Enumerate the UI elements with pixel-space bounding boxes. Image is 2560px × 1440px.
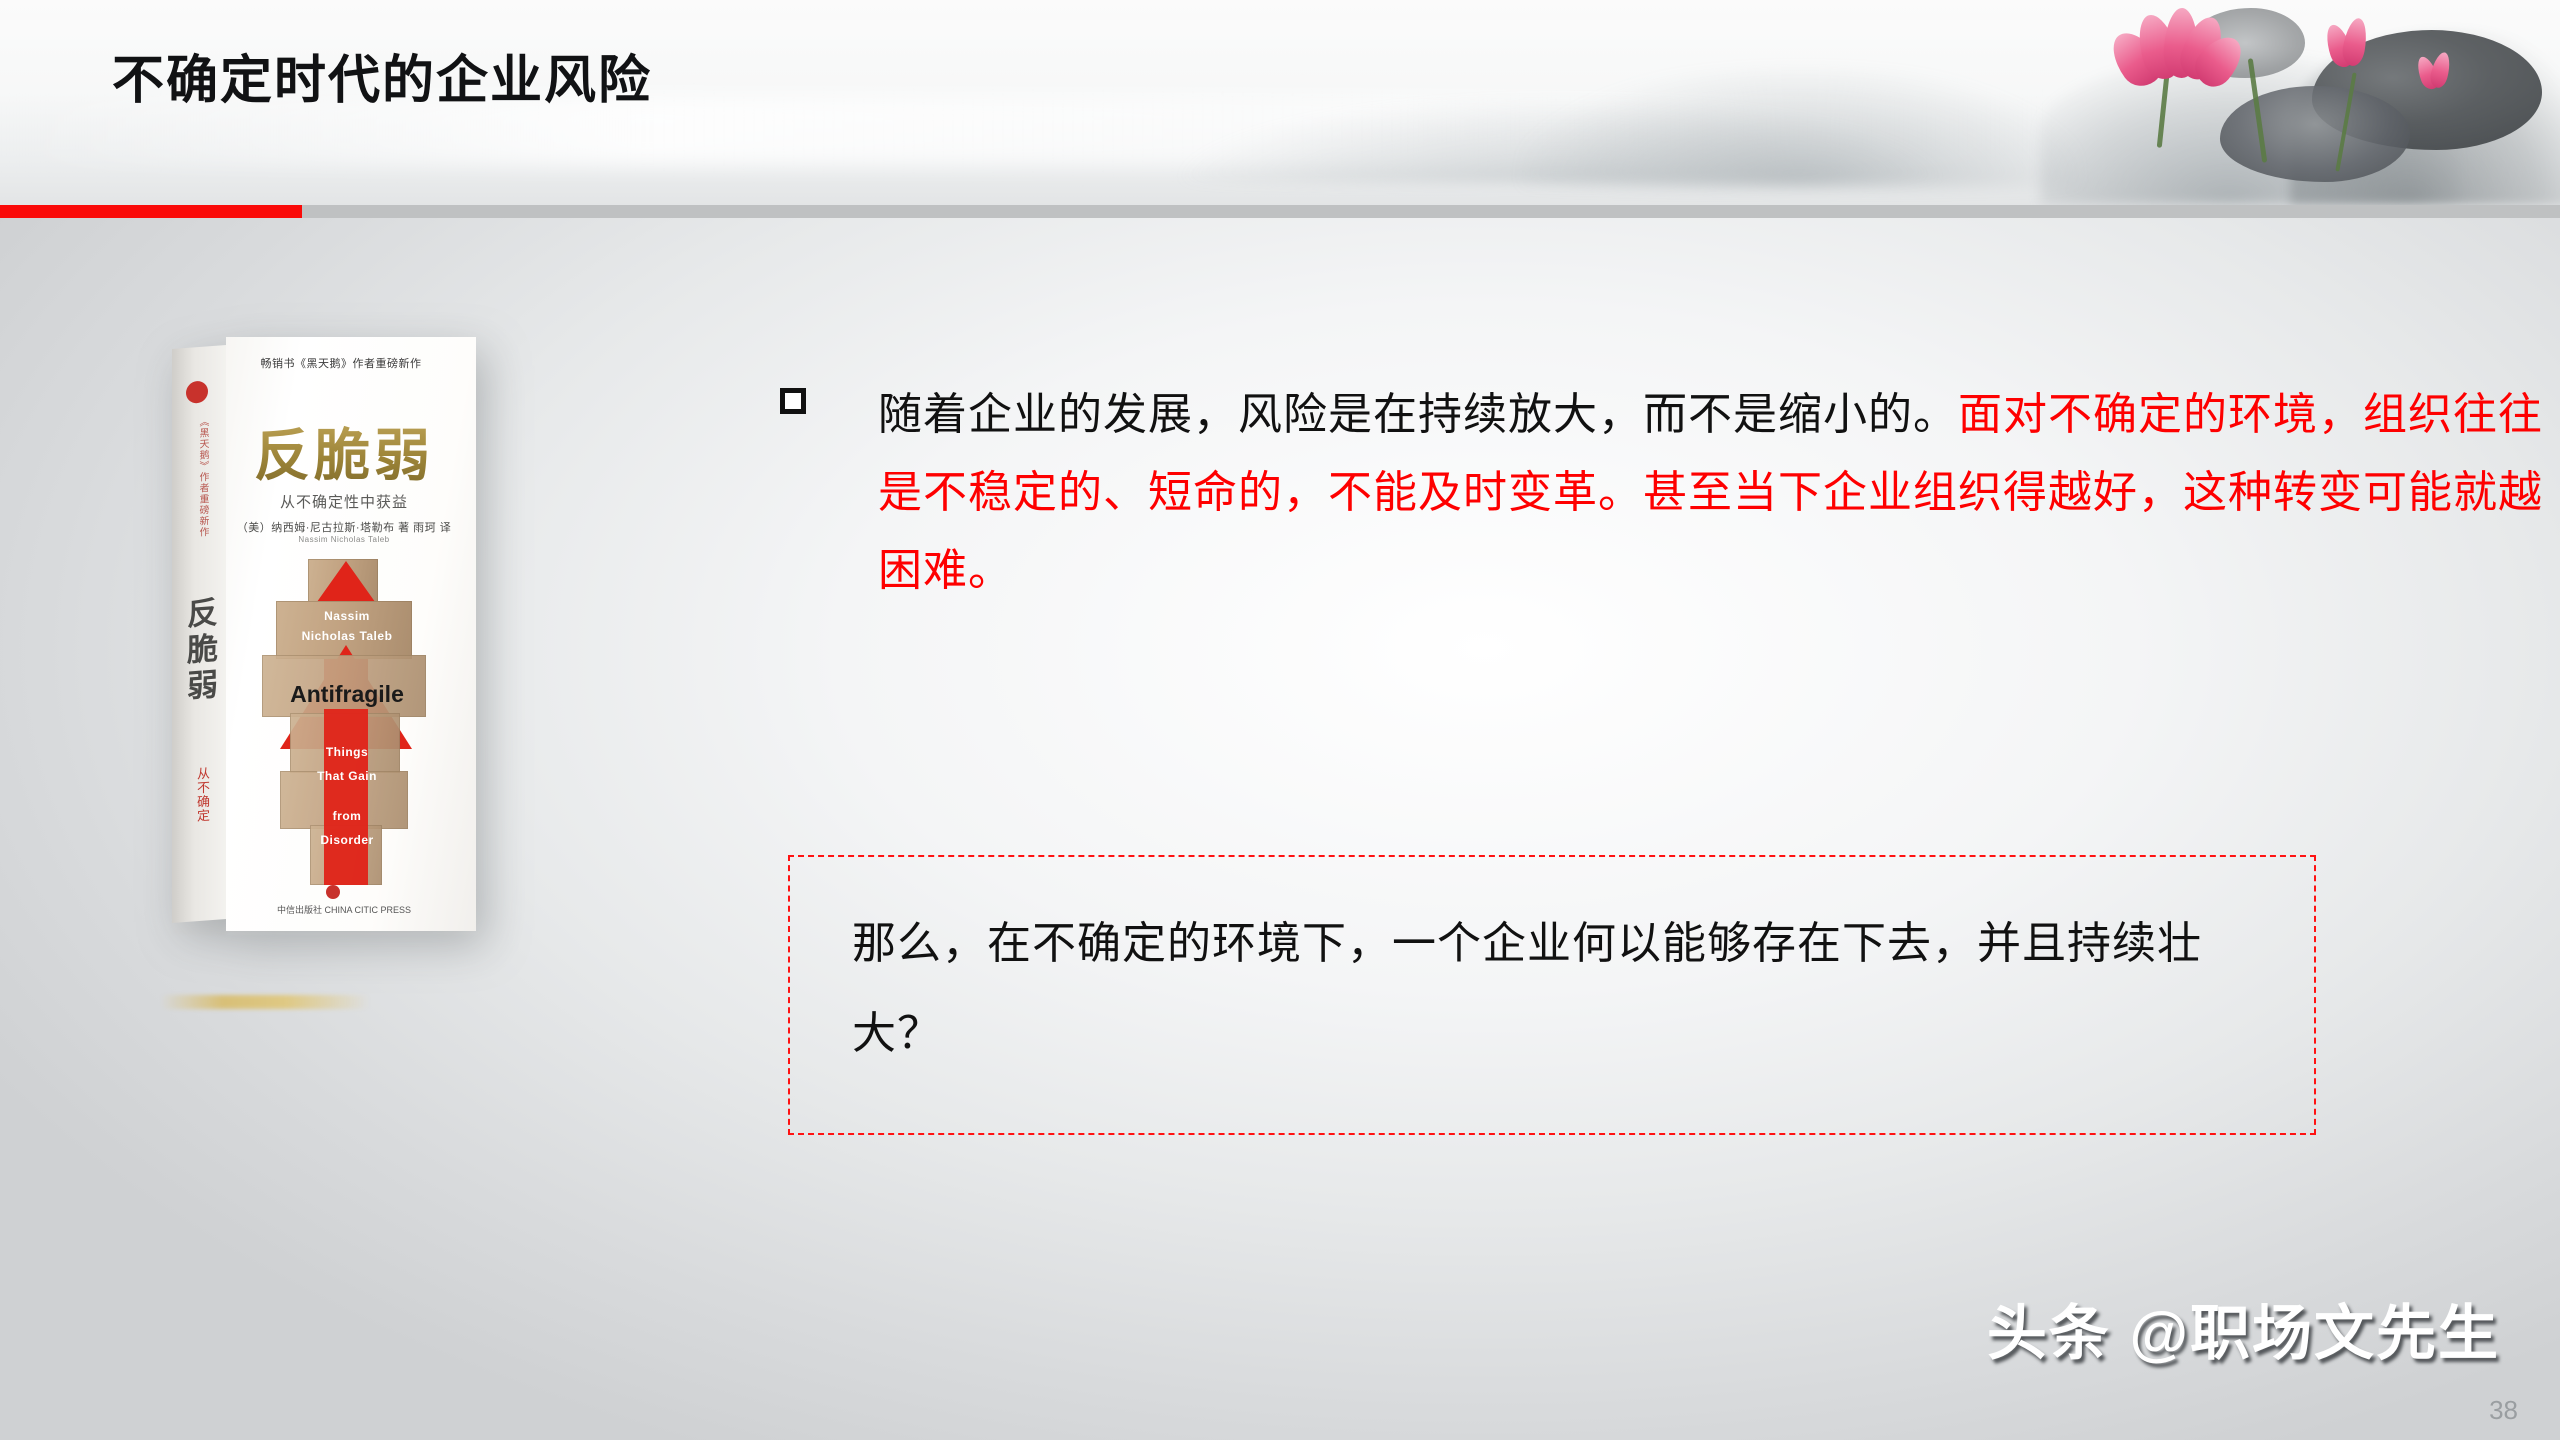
book-spine: 《黑天鹅》作者重磅新作 反脆弱 从不确定 [172, 345, 228, 923]
book-cover-image: 《黑天鹅》作者重磅新作 反脆弱 从不确定 畅销书《黑天鹅》作者重磅新作 反脆弱 … [172, 335, 492, 935]
slide-header: 不确定时代的企业风险 [0, 0, 2560, 205]
slide-page-number: 38 [2489, 1395, 2518, 1426]
book-reflection-highlight [160, 995, 370, 1009]
book-spine-note: 《黑天鹅》作者重磅新作 [190, 416, 208, 567]
artwork-tagline-4: Disorder [262, 833, 432, 847]
book-cover-artwork: Nassim Nicholas Taleb Antifragile Things… [262, 559, 432, 889]
artwork-tagline-1: Things [262, 745, 432, 759]
artwork-author-line2: Nicholas Taleb [262, 629, 432, 643]
lotus-leaf-icon-2 [2220, 86, 2410, 182]
artwork-author-line1: Nassim [262, 609, 432, 623]
artwork-tagline-2: That Gain [262, 769, 432, 783]
book-cover-author-en: Nassim Nicholas Taleb [226, 535, 462, 544]
bullet-text-black: 随着企业的发展，风险是在持续放大，而不是缩小的。 [878, 390, 1958, 439]
book-cover-topline: 畅销书《黑天鹅》作者重磅新作 [226, 355, 456, 371]
book-cover-title: 反脆弱 [226, 411, 462, 492]
slide-canvas: 不确定时代的企业风险 反脆弱 《黑天鹅》作者重磅新作 反脆弱 从不确定 畅销书《… [0, 0, 2560, 1440]
watermark-text: 头条 @职场文先生 [1987, 1285, 2500, 1372]
divider-bar-grey [0, 205, 2560, 218]
book-cover-author-cn: （美）纳西姆·尼古拉斯·塔勒布 著 雨珂 译 [226, 519, 462, 535]
publisher-mark-icon [326, 885, 340, 899]
book-spine-title: 反脆弱 [182, 596, 216, 706]
red-arrow-stem-front [324, 709, 368, 885]
publisher-logo-dot-icon [186, 380, 208, 404]
artwork-tagline-3: from [262, 809, 432, 823]
book-publisher: 中信出版社 CHINA CITIC PRESS [226, 903, 462, 916]
square-bullet-icon [780, 388, 806, 414]
question-callout-box: 那么，在不确定的环境下，一个企业何以能够存在下去，并且持续壮大？ [788, 855, 2316, 1135]
lotus-flower-icon-small [2418, 52, 2452, 92]
book-spine-subtitle: 从不确定 [192, 766, 212, 823]
lotus-bud-icon [2326, 18, 2372, 72]
book-front-cover: 畅销书《黑天鹅》作者重磅新作 反脆弱 从不确定性中获益 （美）纳西姆·尼古拉斯·… [226, 337, 476, 931]
lotus-flower-icon-main [2110, 4, 2230, 90]
page-title: 不确定时代的企业风险 [112, 38, 652, 113]
mountain-decoration-2 [1520, 67, 2080, 187]
book-cover-subtitle: 从不确定性中获益 [226, 491, 462, 512]
lotus-decoration [2060, 0, 2560, 205]
question-callout-text: 那么，在不确定的环境下，一个企业何以能够存在下去，并且持续壮大？ [852, 899, 2272, 1079]
divider-bar-red-accent [0, 205, 302, 218]
artwork-title: Antifragile [262, 681, 432, 708]
bullet-text: 随着企业的发展，风险是在持续放大，而不是缩小的。面对不确定的环境，组织往往是不稳… [878, 376, 2560, 610]
